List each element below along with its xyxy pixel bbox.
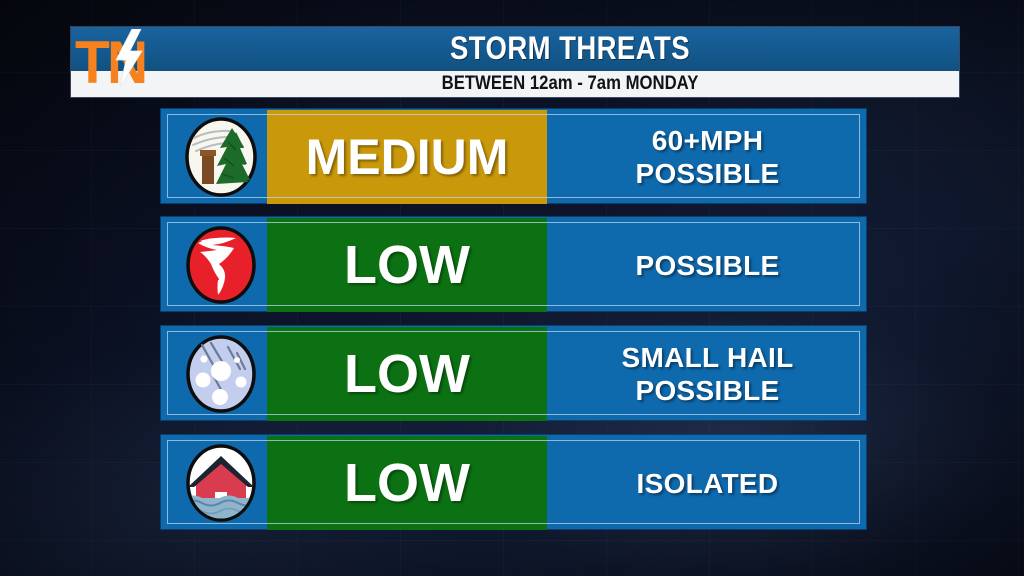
threat-description-text: 60+MPH POSSIBLE bbox=[636, 124, 780, 190]
threat-level-bar: LOW bbox=[267, 327, 547, 421]
lightning-bolt-icon bbox=[111, 29, 145, 87]
threat-level-bar: MEDIUM bbox=[267, 110, 547, 204]
tornado-icon bbox=[173, 221, 269, 309]
threat-description: ISOLATED bbox=[549, 436, 866, 530]
hail-icon bbox=[173, 330, 269, 418]
threat-row[interactable]: MEDIUM bbox=[160, 108, 867, 204]
threat-description-text: ISOLATED bbox=[637, 467, 779, 500]
threat-description: SMALL HAIL POSSIBLE bbox=[549, 327, 866, 421]
threat-level-bar: LOW bbox=[267, 436, 547, 530]
threat-row[interactable]: LOW SMALL HAIL POSSIBLE bbox=[160, 325, 867, 421]
threat-row[interactable]: LOW POSSIBLE bbox=[160, 216, 867, 312]
wind-tree-icon bbox=[173, 113, 269, 201]
threat-level-label: LOW bbox=[344, 347, 470, 401]
threat-description-text: SMALL HAIL POSSIBLE bbox=[621, 341, 793, 407]
threat-description: 60+MPH POSSIBLE bbox=[549, 110, 866, 204]
threat-level-label: LOW bbox=[344, 238, 470, 292]
threat-level-bar: LOW bbox=[267, 218, 547, 312]
threat-row[interactable]: LOW bbox=[160, 434, 867, 530]
header-banner: STORM THREATS BETWEEN 12am - 7am MONDAY bbox=[71, 27, 959, 97]
threat-description: POSSIBLE bbox=[549, 218, 866, 312]
time-window-subtitle: BETWEEN 12am - 7am MONDAY bbox=[228, 71, 913, 97]
weather-graphic-stage: STORM THREATS BETWEEN 12am - 7am MONDAY … bbox=[0, 0, 1024, 576]
threat-level-label: MEDIUM bbox=[306, 130, 509, 184]
station-logo: TN bbox=[71, 27, 157, 97]
threat-level-label: LOW bbox=[344, 456, 470, 510]
flooding-house-icon bbox=[173, 439, 269, 527]
page-title: STORM THREATS bbox=[235, 27, 904, 71]
threat-description-text: POSSIBLE bbox=[636, 249, 780, 282]
